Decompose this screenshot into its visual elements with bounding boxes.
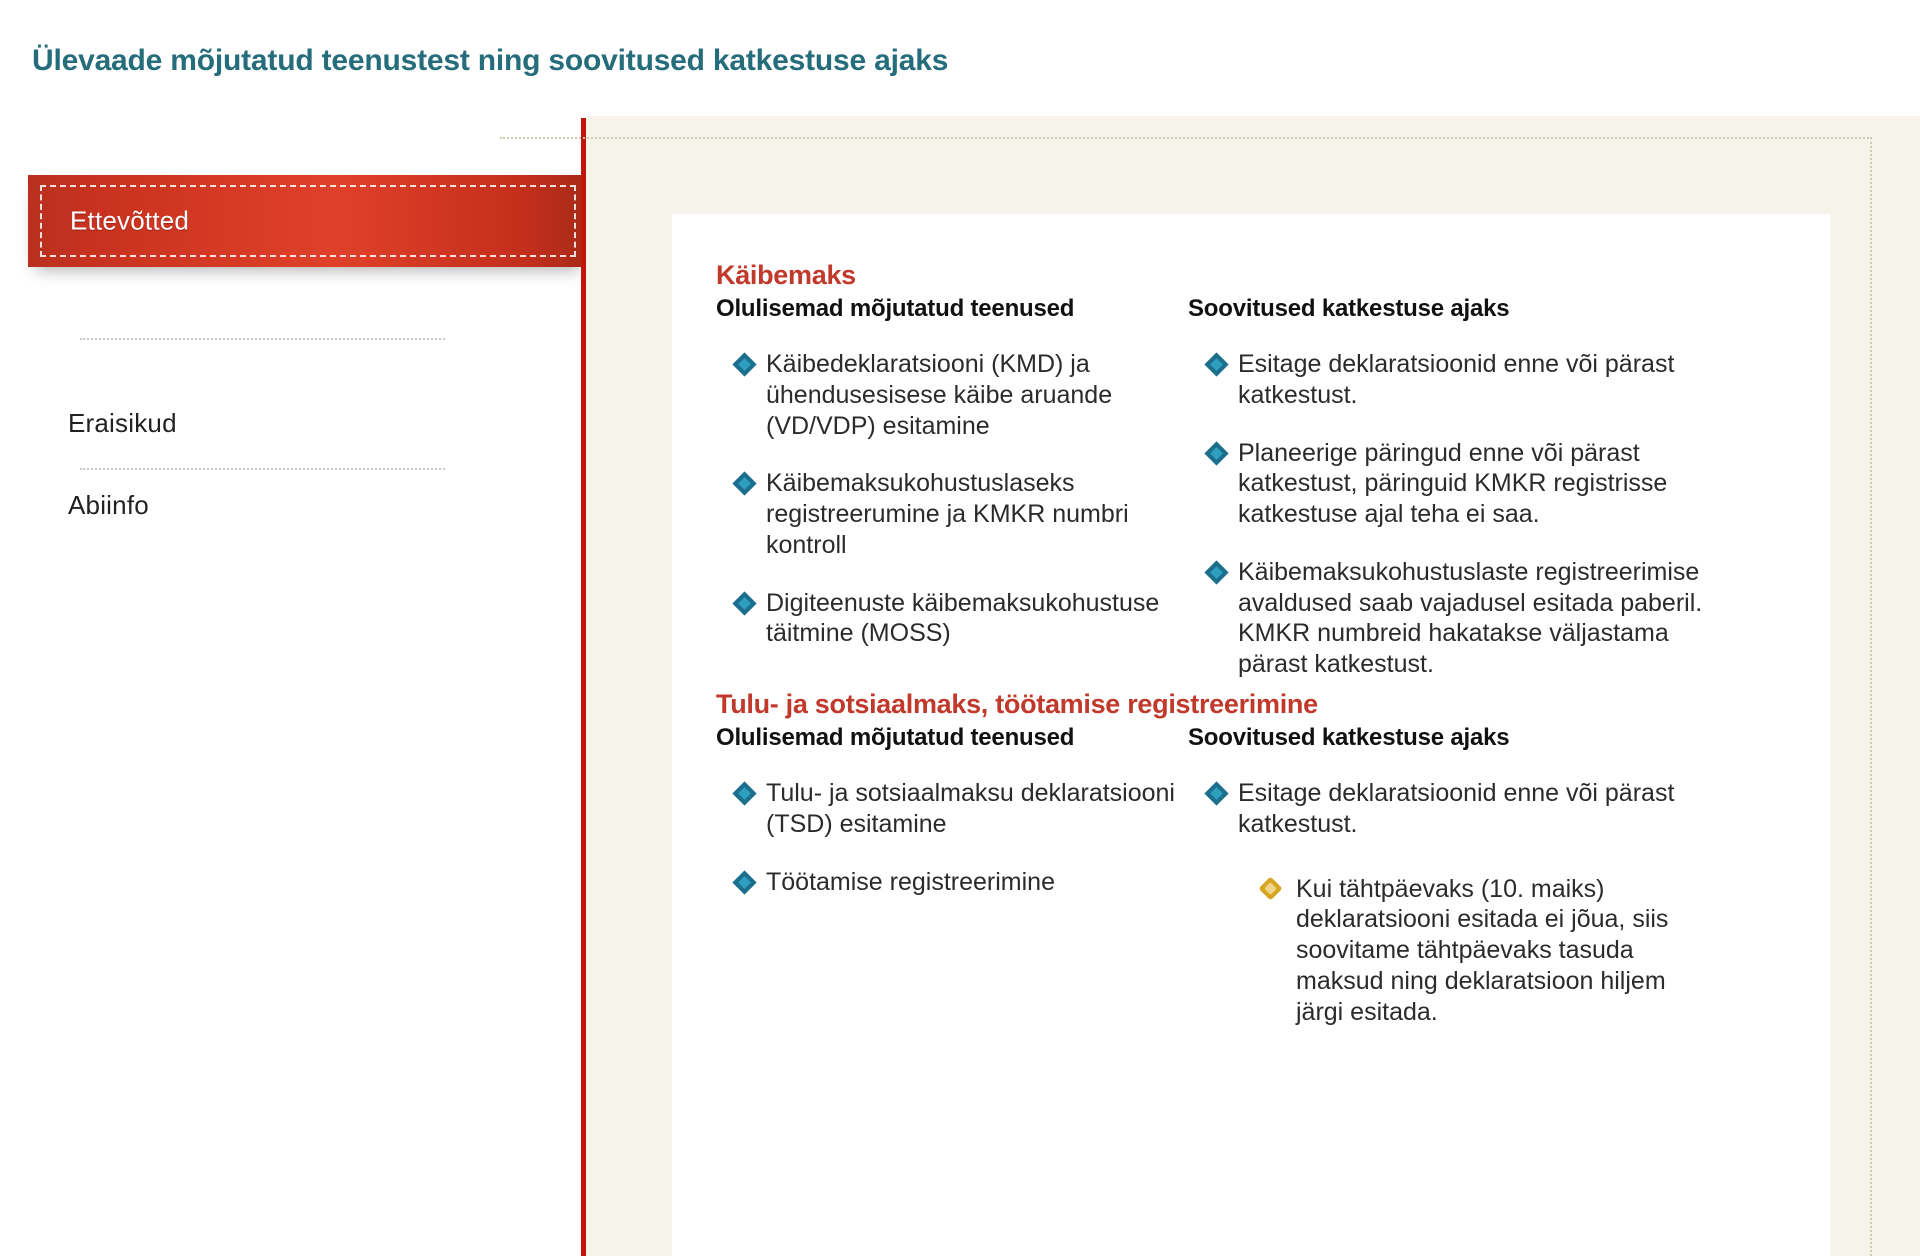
page-title: Ülevaade mõjutatud teenustest ning soovi… xyxy=(32,44,948,78)
section-columns: Olulisemad mõjutatud teenused Tulu- ja s… xyxy=(716,724,1806,1027)
list-item-text: Käibedeklaratsiooni (KMD) ja ühendusesis… xyxy=(766,350,1112,440)
diamond-bullet-icon xyxy=(1204,560,1228,584)
diamond-bullet-icon xyxy=(1204,352,1228,376)
diamond-bullet-icon xyxy=(732,591,756,615)
column-heading: Soovitused katkestuse ajaks xyxy=(1188,724,1708,752)
list-item: Esitage deklaratsioonid enne või pärast … xyxy=(1188,349,1708,411)
column-services: Olulisemad mõjutatud teenused Käibedekla… xyxy=(716,295,1188,680)
sidebar-item-abiinfo[interactable]: Abiinfo xyxy=(68,490,149,521)
list-item-text: Planeerige päringud enne või pärast katk… xyxy=(1238,439,1667,529)
section-columns: Olulisemad mõjutatud teenused Käibedekla… xyxy=(716,295,1806,680)
list-item: Planeerige päringud enne või pärast katk… xyxy=(1188,438,1708,530)
diamond-bullet-icon xyxy=(732,472,756,496)
bullet-list: Käibedeklaratsiooni (KMD) ja ühendusesis… xyxy=(716,349,1188,649)
section-title: Käibemaks xyxy=(716,260,1806,291)
sidebar-divider-1 xyxy=(80,338,445,340)
bullet-list: Tulu- ja sotsiaalmaksu deklaratsiooni (T… xyxy=(716,778,1188,897)
column-heading: Soovitused katkestuse ajaks xyxy=(1188,295,1708,323)
section-tulu-ja-sotsiaalmaks: Tulu- ja sotsiaalmaks, töötamise registr… xyxy=(716,689,1806,1027)
list-item-text: Töötamise registreerimine xyxy=(766,868,1055,896)
column-heading: Olulisemad mõjutatud teenused xyxy=(716,724,1188,752)
diamond-bullet-icon xyxy=(1204,781,1228,805)
list-item: Tulu- ja sotsiaalmaksu deklaratsiooni (T… xyxy=(716,778,1188,840)
sidebar: Ettevõtted Eraisikud Abiinfo xyxy=(0,130,583,1256)
sidebar-item-ettevotted-body[interactable]: Ettevõtted xyxy=(28,175,588,267)
sidebar-item-label: Ettevõtted xyxy=(70,206,189,237)
list-item: Digiteenuste käibemaksukohustuse täitmin… xyxy=(716,588,1188,650)
bullet-list: Esitage deklaratsioonid enne või pärast … xyxy=(1188,349,1708,680)
diamond-bullet-icon xyxy=(732,781,756,805)
diamond-bullet-icon xyxy=(1204,441,1228,465)
gold-diamond-bullet-icon xyxy=(1258,876,1282,900)
sidebar-divider-2 xyxy=(80,468,445,470)
diamond-bullet-icon xyxy=(732,352,756,376)
sub-list-item: Kui tähtpäevaks (10. maiks) deklaratsioo… xyxy=(1244,874,1708,1028)
list-item-text: Digiteenuste käibemaksukohustuse täitmin… xyxy=(766,589,1159,648)
section-kaibemaks: Käibemaks Olulisemad mõjutatud teenused … xyxy=(716,260,1806,680)
list-item-text: Esitage deklaratsioonid enne või pärast … xyxy=(1238,350,1674,409)
column-heading: Olulisemad mõjutatud teenused xyxy=(716,295,1188,323)
column-recommendations: Soovitused katkestuse ajaks Esitage dekl… xyxy=(1188,295,1708,680)
list-item-text: Käibemaksukohustuslaseks registreerumine… xyxy=(766,469,1129,559)
sidebar-item-ettevotted[interactable]: Ettevõtted xyxy=(28,175,620,267)
diamond-bullet-icon xyxy=(732,870,756,894)
list-item-text: Käibemaksukohustuslaste registreerimise … xyxy=(1238,558,1702,678)
sub-bullet-list: Kui tähtpäevaks (10. maiks) deklaratsioo… xyxy=(1188,874,1708,1028)
content-panel: Käibemaks Olulisemad mõjutatud teenused … xyxy=(672,214,1830,1256)
sub-list-item-text: Kui tähtpäevaks (10. maiks) deklaratsioo… xyxy=(1296,875,1668,1026)
list-item-text: Esitage deklaratsioonid enne või pärast … xyxy=(1238,779,1674,838)
column-services: Olulisemad mõjutatud teenused Tulu- ja s… xyxy=(716,724,1188,1027)
list-item-text: Tulu- ja sotsiaalmaksu deklaratsiooni (T… xyxy=(766,779,1175,838)
list-item: Käibedeklaratsiooni (KMD) ja ühendusesis… xyxy=(716,349,1188,441)
list-item: Käibemaksukohustuslaste registreerimise … xyxy=(1188,557,1708,680)
sidebar-item-eraisikud[interactable]: Eraisikud xyxy=(68,408,177,439)
list-item: Esitage deklaratsioonid enne või pärast … xyxy=(1188,778,1708,840)
section-title: Tulu- ja sotsiaalmaks, töötamise registr… xyxy=(716,689,1806,720)
list-item: Käibemaksukohustuslaseks registreerumine… xyxy=(716,468,1188,560)
column-recommendations: Soovitused katkestuse ajaks Esitage dekl… xyxy=(1188,724,1708,1027)
list-item: Töötamise registreerimine xyxy=(716,867,1188,898)
bullet-list: Esitage deklaratsioonid enne või pärast … xyxy=(1188,778,1708,840)
